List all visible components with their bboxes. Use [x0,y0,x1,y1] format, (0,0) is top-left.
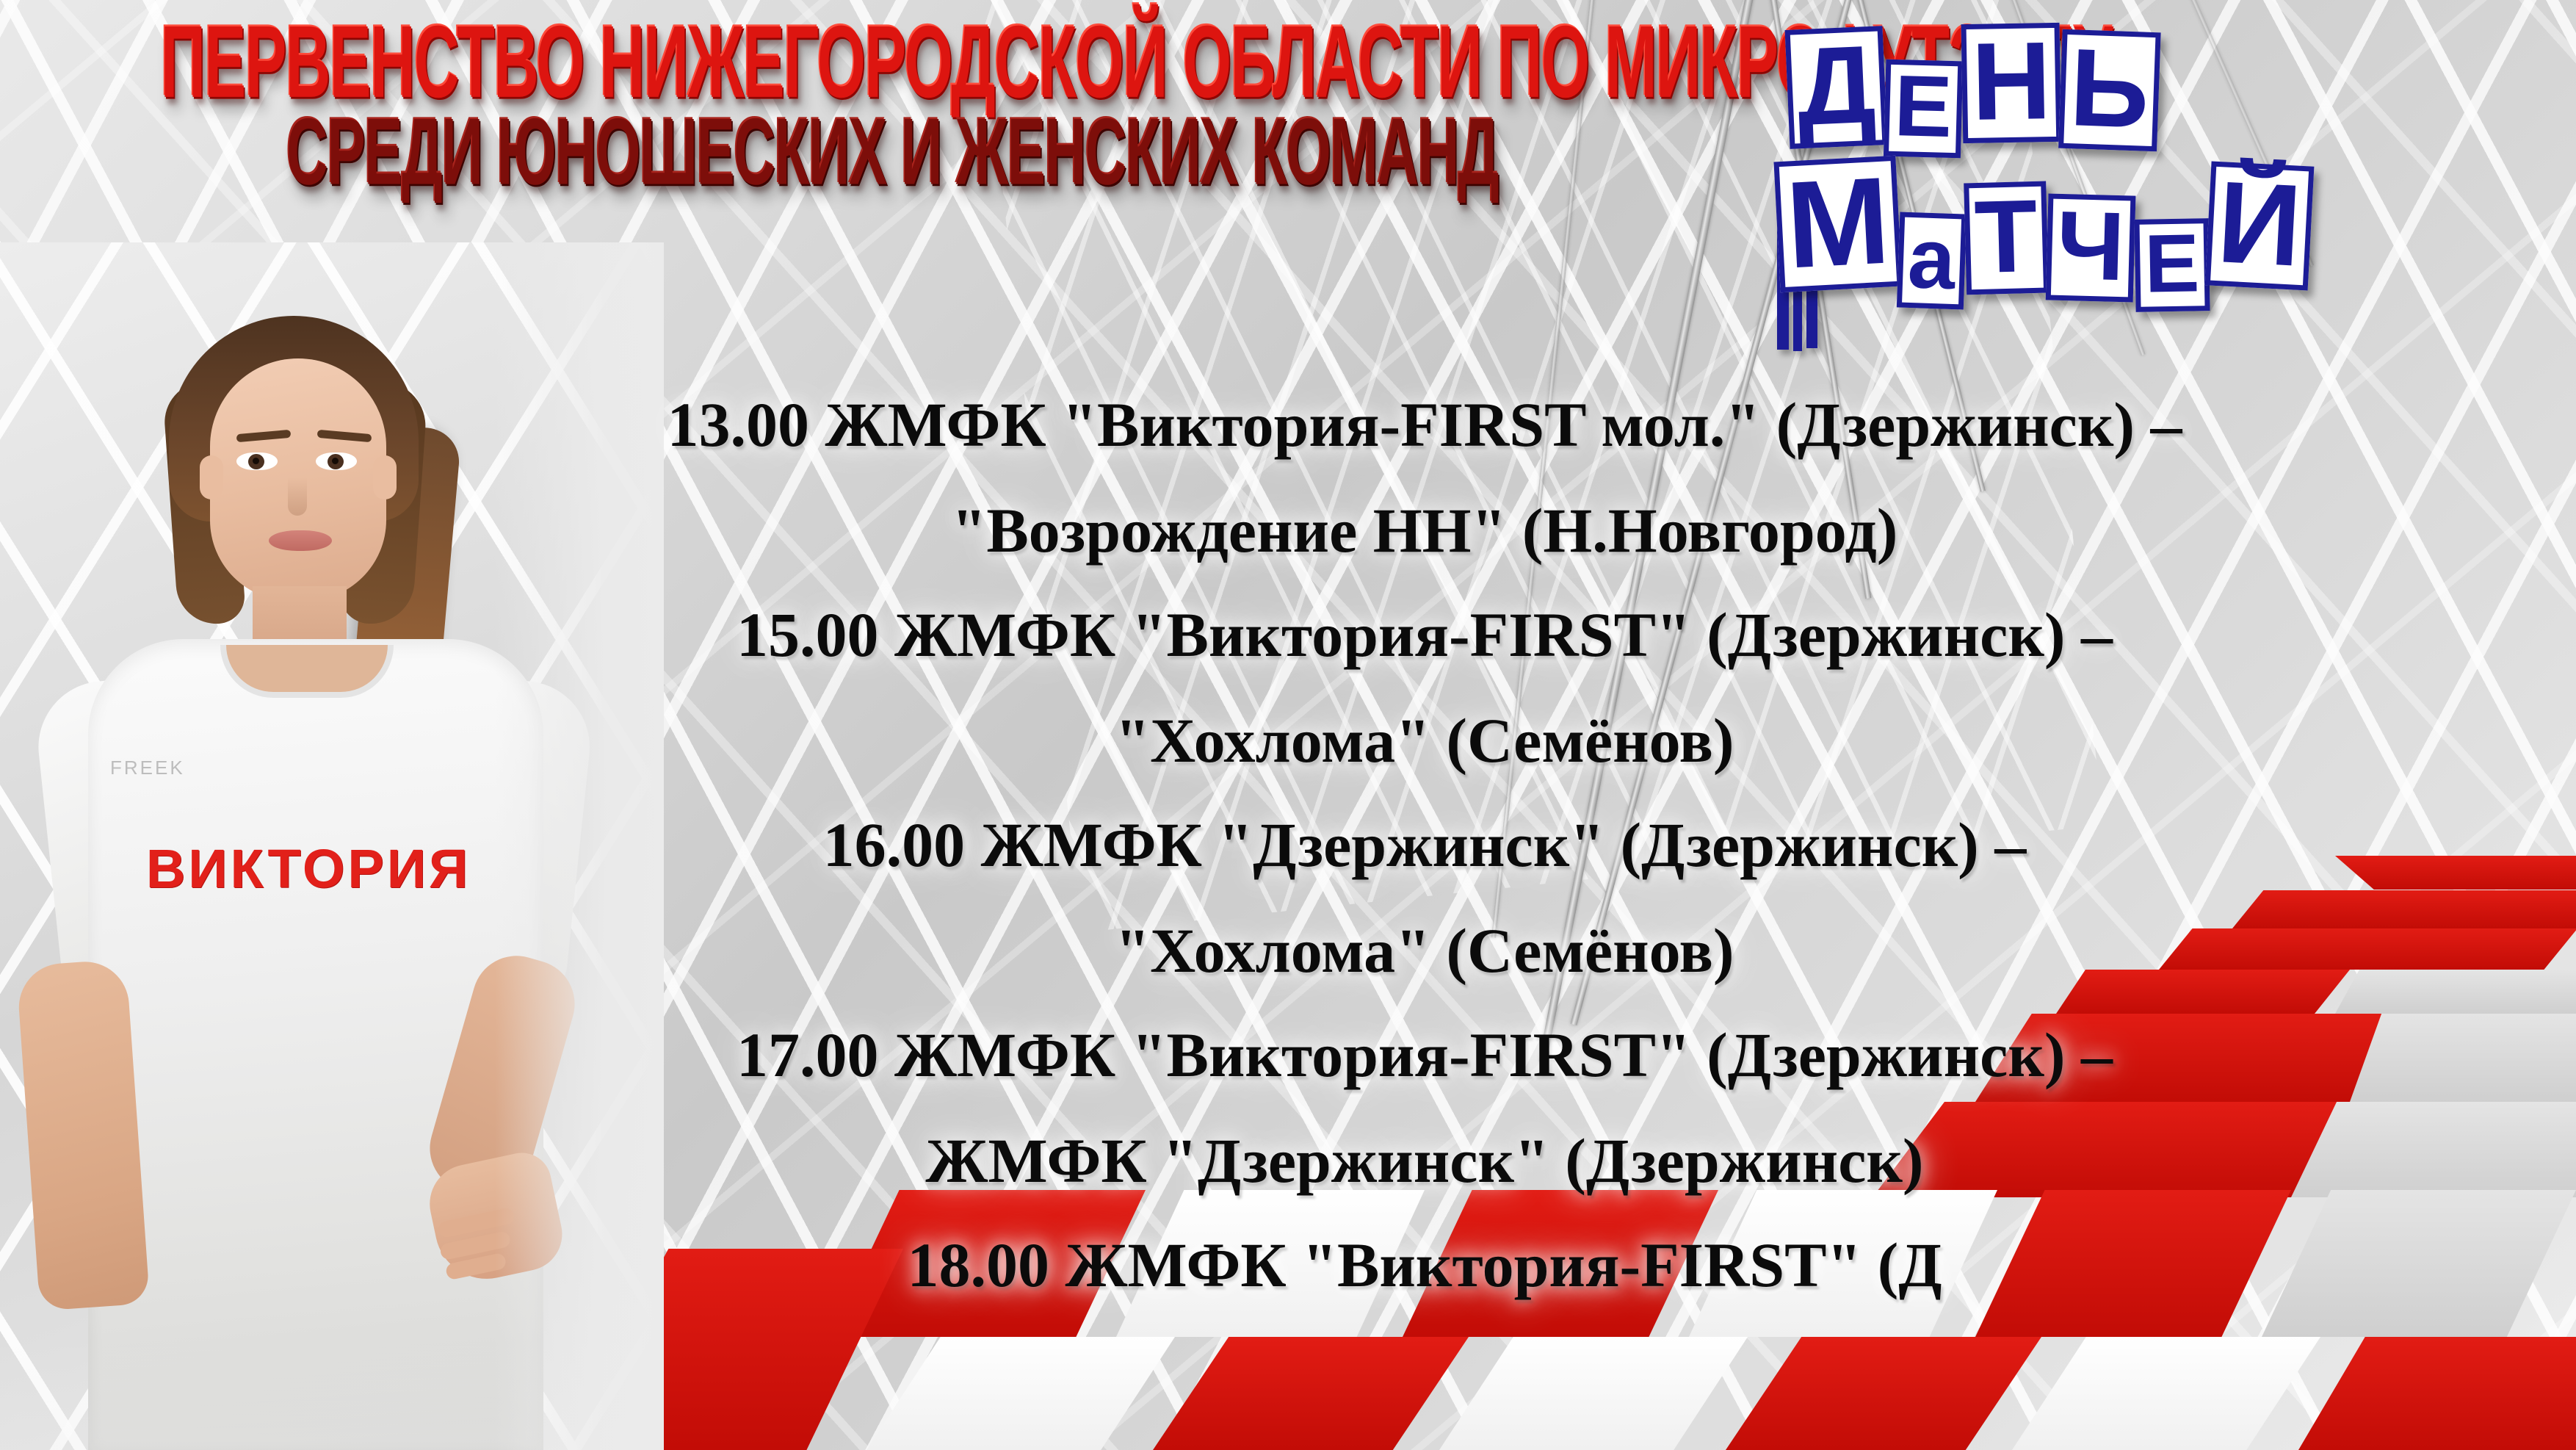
match-row: ЖМФК "Дзержинск" (Дзержинск) [411,1129,2438,1192]
logo-letter: Д [1785,26,1888,148]
jersey-collar [220,645,394,698]
logo-letter: Й [2205,162,2314,291]
match-row: 13.00 ЖМФК "Виктория-FIRST мол." (Дзержи… [411,393,2438,456]
ear-left [200,455,223,499]
match-row: 15.00 ЖМФК "Виктория-FIRST" (Дзержинск) … [411,603,2438,666]
poster-canvas: FREEK ВИКТОРИЯ Первенство Нижегородской … [0,0,2576,1450]
nose [288,477,307,516]
poster-title: Первенство Нижегородской области по микр… [0,10,1784,176]
logo-word-matchey: М а Т Ч Е Й [1777,159,2311,289]
photo-bottom-fade [0,1340,661,1450]
match-row: 16.00 ЖМФК "Дзержинск" (Дзержинск) – [411,813,2438,876]
jersey-brand-text: FREEK [110,757,185,779]
eye-right [316,452,357,470]
title-line-2: среди юношеских и женских команд [161,104,1624,201]
logo-letter: Е [2134,218,2210,312]
match-row-cutoff: 18.00 ЖМФК "Виктория-FIRST" (Д [411,1233,2438,1296]
logo-letter: а [1897,212,1967,310]
logo-letter: Ч [2046,194,2135,303]
logo-letter: М [1773,156,1902,293]
logo-letter: Т [1964,181,2049,295]
logo-letter: Е [1884,59,1963,157]
match-row: "Возрождение НН" (Н.Новгород) [411,499,2438,562]
den-matchey-logo: Д Е Н Ь М а Т Ч Е Й [1777,12,2570,386]
match-schedule: 13.00 ЖМФК "Виктория-FIRST мол." (Дзержи… [411,393,2438,1339]
match-row: "Хохлома" (Семёнов) [411,709,2438,772]
match-row: "Хохлома" (Семёнов) [411,919,2438,982]
eye-left [236,452,278,470]
lips [269,530,332,551]
logo-word-den: Д Е Н Ь [1787,28,2159,147]
logo-letter: Н [1961,23,2061,143]
logo-letter: Ь [2058,29,2160,151]
ear-right [373,455,397,499]
match-row: 17.00 ЖМФК "Виктория-FIRST" (Дзержинск) … [411,1023,2438,1086]
